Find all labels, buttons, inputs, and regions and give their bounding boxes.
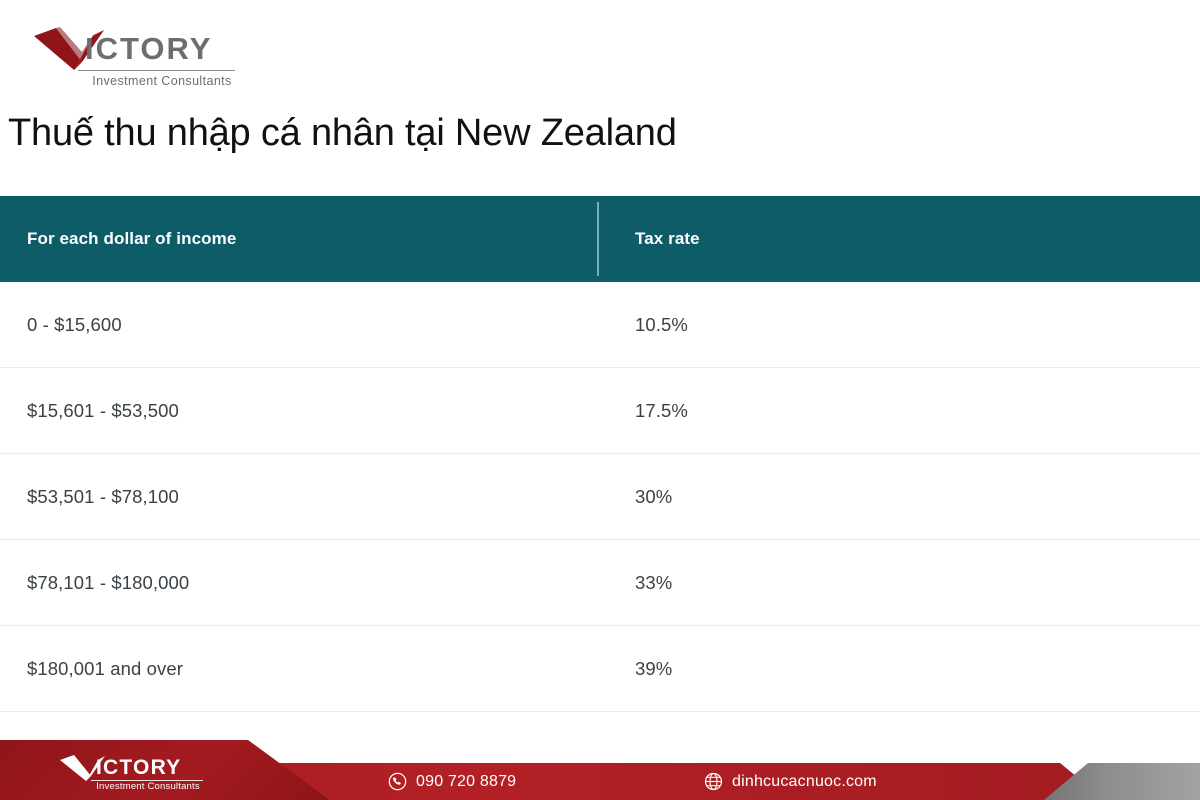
footer-website[interactable]: dinhcucacnuoc.com bbox=[704, 763, 877, 800]
table-body: 0 - $15,600 10.5% $15,601 - $53,500 17.5… bbox=[0, 282, 1200, 712]
table-row: $78,101 - $180,000 33% bbox=[0, 540, 1200, 626]
table-header-row: For each dollar of income Tax rate bbox=[0, 196, 1200, 282]
footer-phone[interactable]: 090 720 8879 bbox=[388, 763, 516, 800]
footer-website-label: dinhcucacnuoc.com bbox=[732, 773, 877, 791]
cell-income-bracket: $180,001 and over bbox=[0, 658, 597, 680]
header-column-divider bbox=[597, 202, 599, 276]
cell-tax-rate: 30% bbox=[597, 486, 1200, 508]
cell-income-bracket: 0 - $15,600 bbox=[0, 314, 597, 336]
cell-tax-rate: 33% bbox=[597, 572, 1200, 594]
cell-income-bracket: $78,101 - $180,000 bbox=[0, 572, 597, 594]
footer-brand-tagline: Investment Consultants bbox=[91, 781, 205, 792]
column-header-tax-rate: Tax rate bbox=[597, 229, 1200, 249]
cell-income-bracket: $15,601 - $53,500 bbox=[0, 400, 597, 422]
column-header-income: For each dollar of income bbox=[0, 229, 597, 249]
brand-tagline: Investment Consultants bbox=[82, 74, 242, 88]
cell-tax-rate: 39% bbox=[597, 658, 1200, 680]
footer-bar: ICTORY Investment Consultants 090 720 88… bbox=[0, 740, 1200, 800]
page-title: Thuế thu nhập cá nhân tại New Zealand bbox=[8, 112, 677, 155]
phone-circle-icon bbox=[388, 772, 407, 791]
footer-brand-wordmark: ICTORY bbox=[96, 756, 181, 779]
brand-rule bbox=[78, 70, 235, 71]
footer-phone-label: 090 720 8879 bbox=[416, 773, 516, 791]
slide-canvas: ICTORY Investment Consultants Thuế thu n… bbox=[0, 0, 1200, 800]
table-row: $15,601 - $53,500 17.5% bbox=[0, 368, 1200, 454]
table-row: $53,501 - $78,100 30% bbox=[0, 454, 1200, 540]
cell-tax-rate: 10.5% bbox=[597, 314, 1200, 336]
globe-icon bbox=[704, 772, 723, 791]
brand-logo: ICTORY Investment Consultants bbox=[30, 26, 240, 94]
cell-tax-rate: 17.5% bbox=[597, 400, 1200, 422]
tax-rate-table: For each dollar of income Tax rate 0 - $… bbox=[0, 196, 1200, 712]
table-row: 0 - $15,600 10.5% bbox=[0, 282, 1200, 368]
brand-wordmark: ICTORY bbox=[85, 32, 212, 66]
cell-income-bracket: $53,501 - $78,100 bbox=[0, 486, 597, 508]
table-row: $180,001 and over 39% bbox=[0, 626, 1200, 712]
footer-brand-logo: ICTORY Investment Consultants bbox=[58, 752, 208, 794]
